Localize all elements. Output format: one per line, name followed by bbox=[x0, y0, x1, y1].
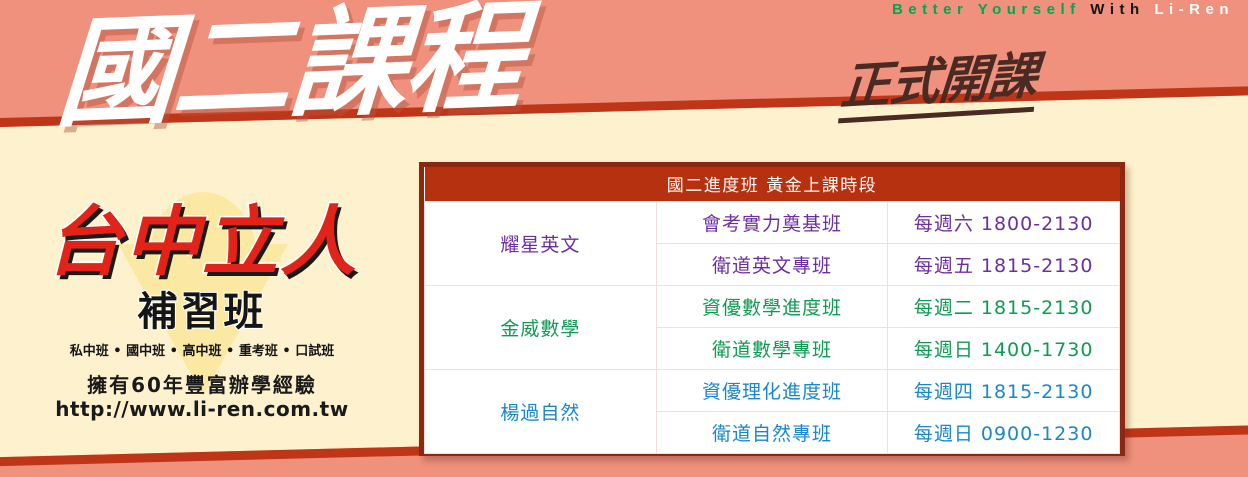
course-cell: 衛道自然專班 bbox=[656, 411, 888, 453]
time-cell: 每週日 0900-1230 bbox=[888, 411, 1120, 453]
time-cell: 每週四 1815-2130 bbox=[888, 369, 1120, 411]
tagline-part-3: Li-Ren bbox=[1154, 1, 1234, 18]
tagline: Better Yourself With Li-Ren bbox=[892, 1, 1234, 18]
time-cell: 每週二 1815-2130 bbox=[888, 285, 1120, 327]
table-header-row: 國二進度班 黃金上課時段 bbox=[425, 167, 1120, 201]
logo-url[interactable]: http://www.li-ren.com.tw bbox=[22, 398, 382, 420]
time-cell: 每週六 1800-2130 bbox=[888, 201, 1120, 243]
subject-cell: 金威數學 bbox=[425, 285, 657, 369]
course-cell: 衛道數學專班 bbox=[656, 327, 888, 369]
schedule-table-wrapper: 國二進度班 黃金上課時段 耀星英文會考實力奠基班每週六 1800-2130衛道英… bbox=[419, 162, 1125, 456]
page-title: 國二課程 bbox=[53, 0, 525, 141]
logo-tracks: 私中班 • 國中班 • 高中班 • 重考班 • 口試班 bbox=[22, 340, 382, 359]
tagline-part-2: With bbox=[1090, 1, 1144, 18]
course-cell: 資優數學進度班 bbox=[656, 285, 888, 327]
subject-cell: 楊過自然 bbox=[425, 369, 657, 453]
logo-type: 補習班 bbox=[22, 292, 382, 332]
tagline-part-1: Better Yourself bbox=[892, 1, 1081, 18]
table-row: 楊過自然資優理化進度班每週四 1815-2130 bbox=[425, 369, 1120, 411]
logo: 台中立人 補習班 私中班 • 國中班 • 高中班 • 重考班 • 口試班 擁有6… bbox=[22, 196, 382, 421]
schedule-body: 耀星英文會考實力奠基班每週六 1800-2130衛道英文專班每週五 1815-2… bbox=[425, 201, 1120, 453]
course-cell: 資優理化進度班 bbox=[656, 369, 888, 411]
schedule-table: 國二進度班 黃金上課時段 耀星英文會考實力奠基班每週六 1800-2130衛道英… bbox=[424, 167, 1120, 454]
course-cell: 會考實力奠基班 bbox=[656, 201, 888, 243]
time-cell: 每週五 1815-2130 bbox=[888, 243, 1120, 285]
page-subtitle: 正式開課 bbox=[838, 50, 1039, 123]
subject-cell: 耀星英文 bbox=[425, 201, 657, 285]
logo-experience: 擁有60年豐富辦學經驗 bbox=[22, 374, 382, 398]
logo-name: 台中立人 bbox=[22, 204, 382, 280]
promo-banner: Better Yourself With Li-Ren 國二課程 正式開課 台中… bbox=[0, 0, 1248, 477]
table-row: 金威數學資優數學進度班每週二 1815-2130 bbox=[425, 285, 1120, 327]
table-row: 耀星英文會考實力奠基班每週六 1800-2130 bbox=[425, 201, 1120, 243]
course-cell: 衛道英文專班 bbox=[656, 243, 888, 285]
schedule-header: 國二進度班 黃金上課時段 bbox=[425, 167, 1120, 201]
time-cell: 每週日 1400-1730 bbox=[888, 327, 1120, 369]
